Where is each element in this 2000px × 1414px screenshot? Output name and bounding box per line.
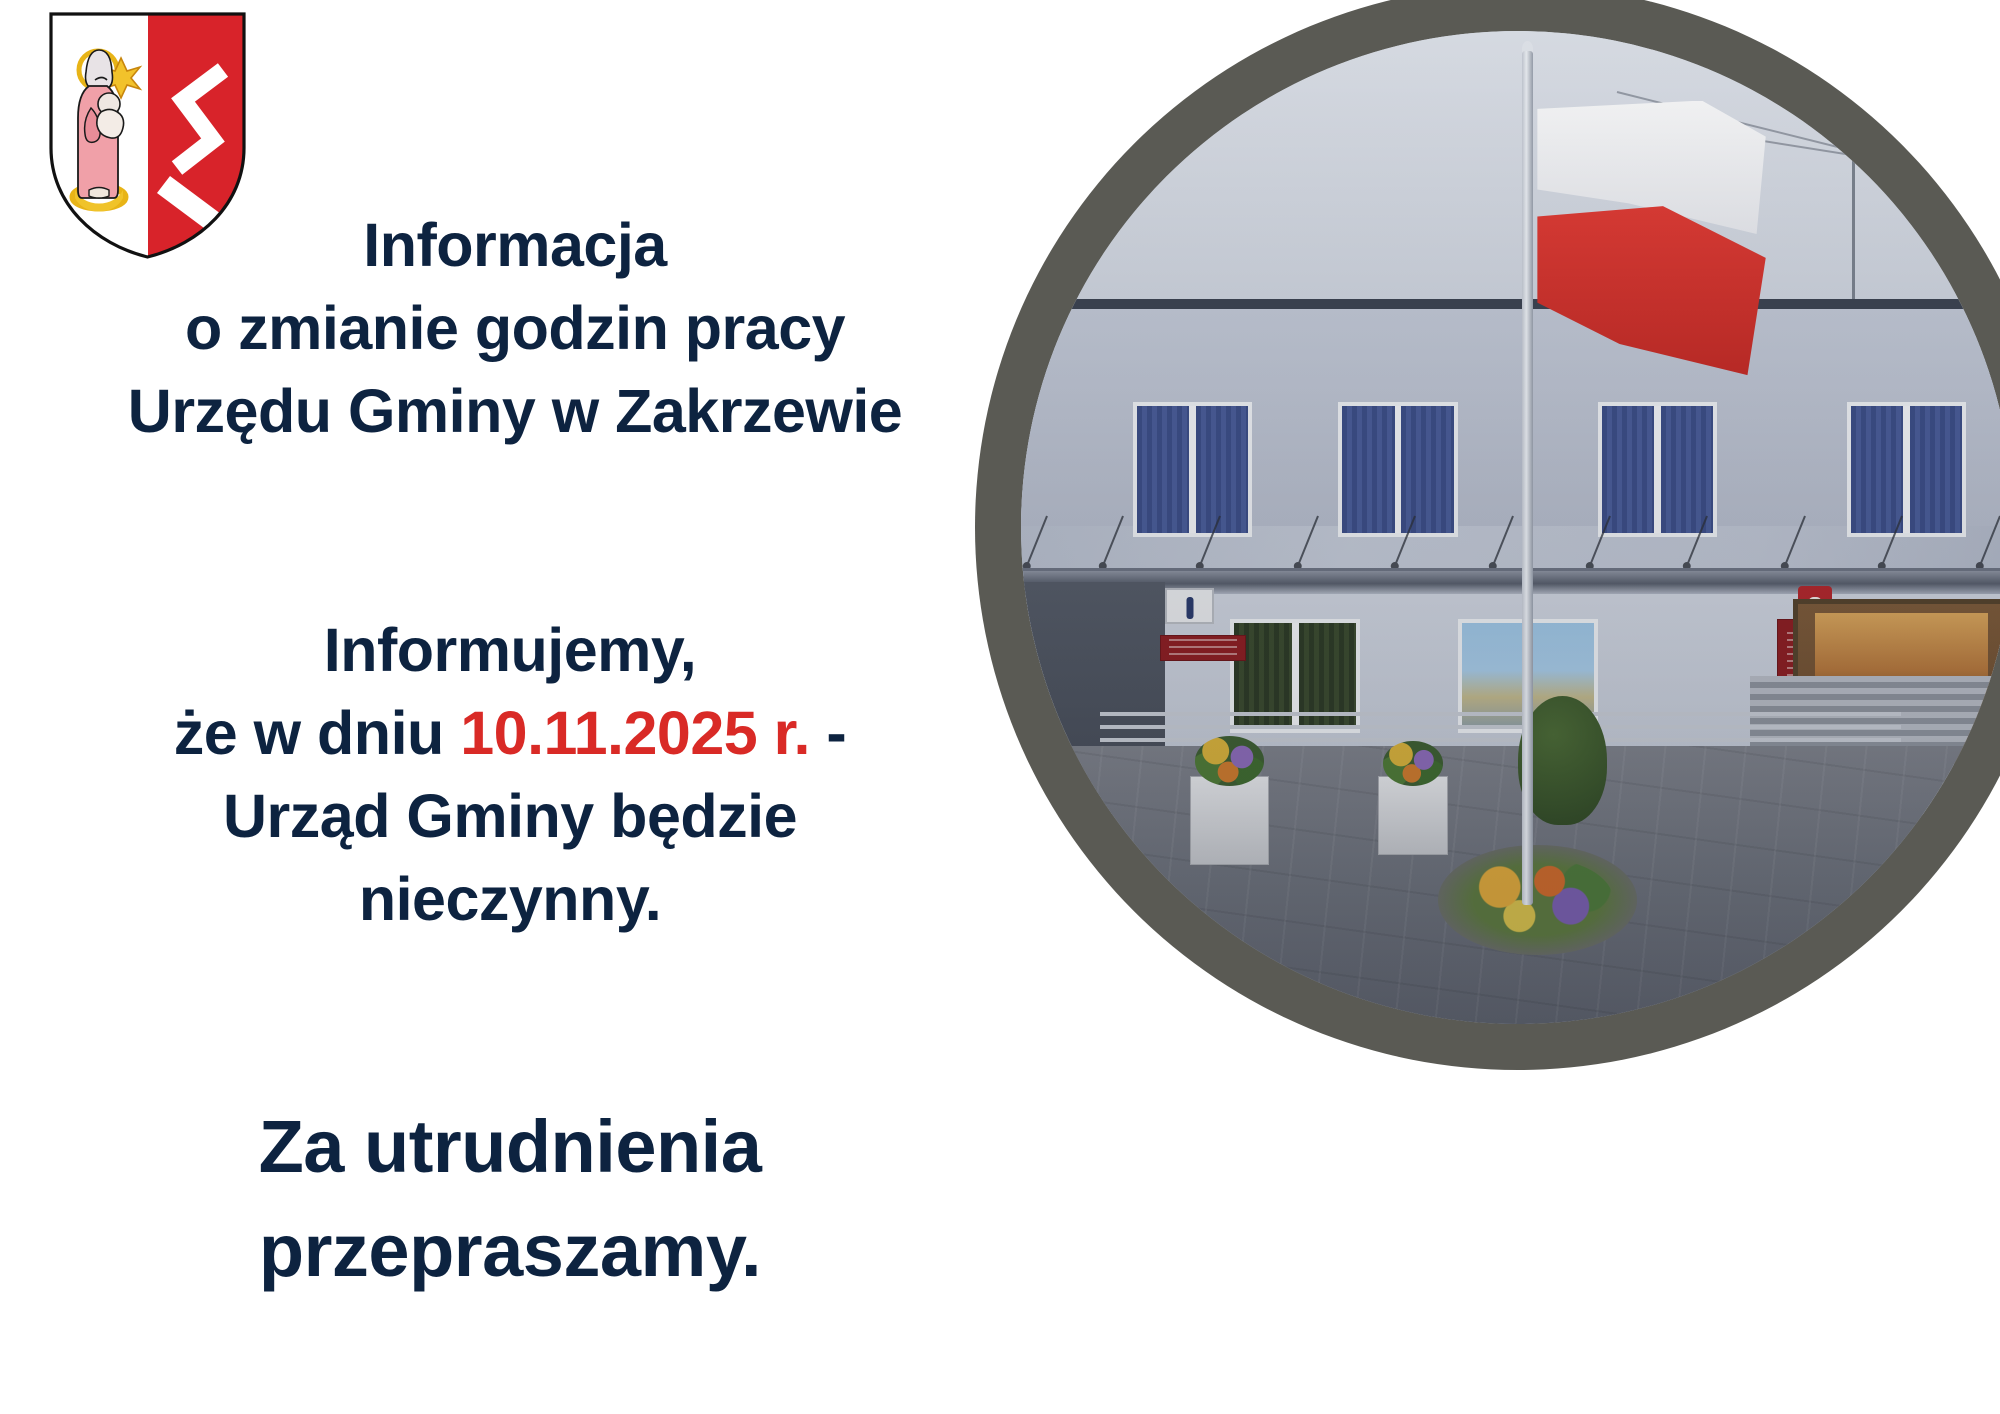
polish-flag-icon bbox=[1537, 101, 1765, 379]
strut bbox=[1199, 515, 1221, 566]
body-line-2: że w dniu 10.11.2025 r. - bbox=[0, 703, 1020, 764]
body-line-4: nieczynny. bbox=[0, 869, 1020, 930]
antenna-mast-icon bbox=[1852, 51, 1855, 309]
apology-line-1: Za utrudnienia bbox=[0, 1110, 1020, 1184]
text-column: Informacja o zmianie godzin pracy Urzędu… bbox=[0, 0, 1020, 1414]
strut bbox=[1394, 515, 1416, 566]
flower-bed-blooms bbox=[1462, 858, 1613, 941]
body-block: Informujemy, że w dniu 10.11.2025 r. - U… bbox=[0, 620, 1020, 952]
flag-red-stripe bbox=[1537, 206, 1765, 378]
strut bbox=[1102, 515, 1124, 566]
planter-right bbox=[1378, 776, 1448, 855]
strut bbox=[1297, 515, 1319, 566]
flowers-right bbox=[1383, 741, 1443, 786]
strut bbox=[1026, 515, 1048, 566]
roofline bbox=[1021, 299, 2000, 309]
flagpole bbox=[1522, 51, 1533, 905]
heading-block: Informacja o zmianie godzin pracy Urzędu… bbox=[0, 215, 1030, 464]
body-line-1: Informujemy, bbox=[0, 620, 1020, 681]
building-facade bbox=[1021, 299, 2000, 815]
heading-line-1: Informacja bbox=[0, 215, 1030, 276]
circular-photo-frame bbox=[975, 0, 2000, 1070]
strut bbox=[1881, 515, 1903, 566]
body-line-3: Urząd Gminy będzie bbox=[0, 786, 1020, 847]
closure-date: 10.11.2025 r. bbox=[460, 699, 810, 767]
body-line-2-prefix: że w dniu bbox=[174, 699, 460, 767]
apology-block: Za utrudnienia przepraszamy. bbox=[0, 1110, 1020, 1318]
door-sign bbox=[1165, 588, 1214, 624]
apology-line-2: przepraszamy. bbox=[0, 1214, 1020, 1288]
office-building-photo bbox=[1021, 31, 2000, 1024]
strut bbox=[1686, 515, 1708, 566]
planter-left bbox=[1190, 776, 1269, 865]
strut bbox=[1979, 515, 2000, 566]
heading-line-3: Urzędu Gminy w Zakrzewie bbox=[0, 381, 1030, 442]
flowers-left bbox=[1195, 736, 1265, 786]
strut bbox=[1784, 515, 1806, 566]
body-line-2-suffix: - bbox=[810, 699, 846, 767]
flower-bed bbox=[1438, 845, 1637, 954]
strut bbox=[1491, 515, 1513, 566]
red-plaque-left bbox=[1160, 635, 1247, 661]
poster-canvas: Informacja o zmianie godzin pracy Urzędu… bbox=[0, 0, 2000, 1414]
heading-line-2: o zmianie godzin pracy bbox=[0, 298, 1030, 359]
strut bbox=[1589, 515, 1611, 566]
